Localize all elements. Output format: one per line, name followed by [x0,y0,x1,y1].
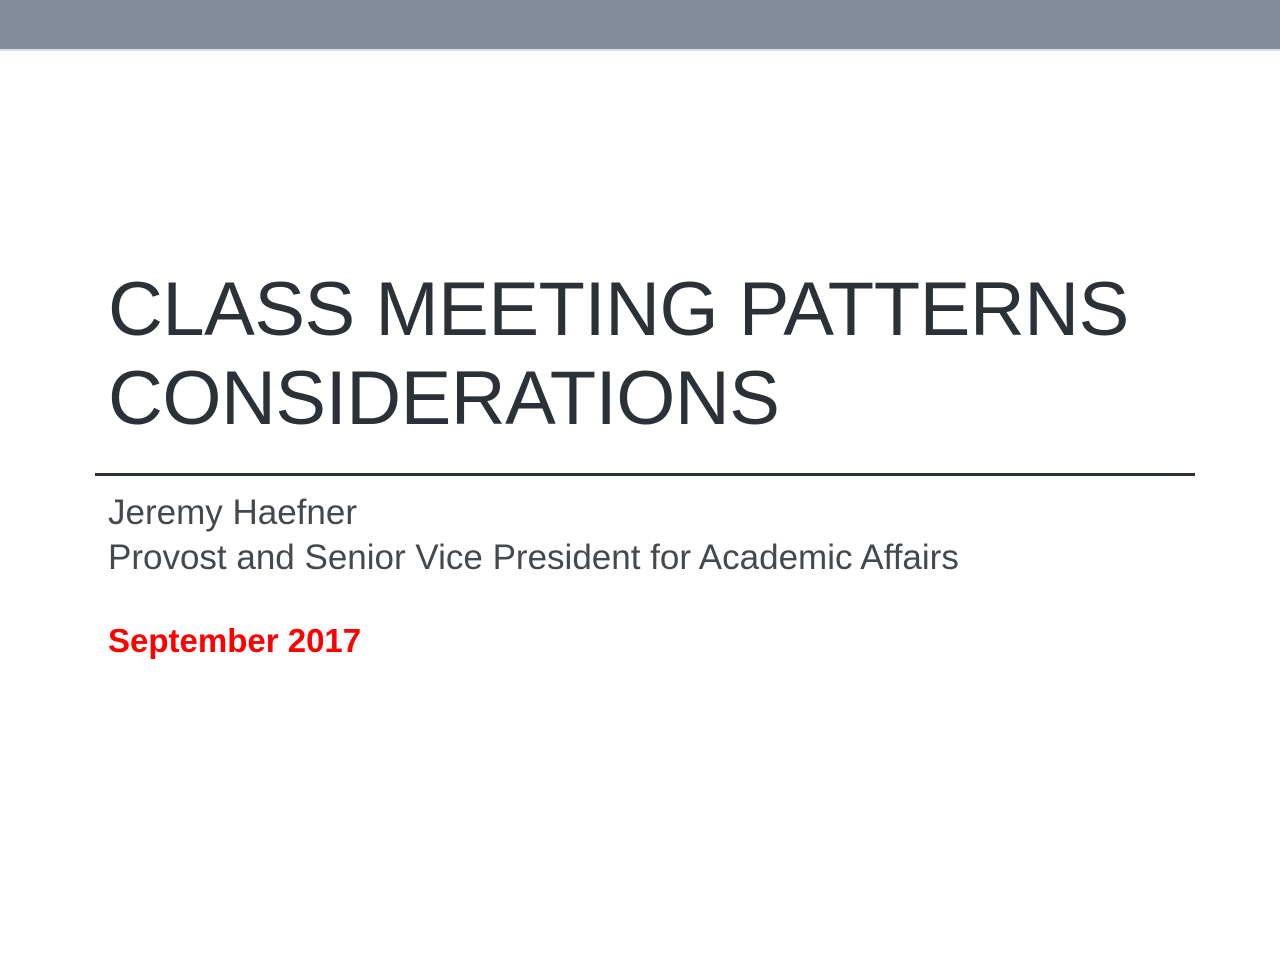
page-title: CLASS MEETING PATTERNS CONSIDERATIONS [108,265,1208,443]
subtitle-block: Jeremy Haefner Provost and Senior Vice P… [108,490,1008,662]
top-accent-band-edge [0,49,1280,51]
title-slide: CLASS MEETING PATTERNS CONSIDERATIONS Je… [0,0,1280,960]
presentation-date: September 2017 [108,620,1008,662]
title-line-1: CLASS MEETING PATTERNS [108,265,1208,354]
title-divider [95,473,1195,476]
subtitle-spacer [108,580,1008,620]
author-role: Provost and Senior Vice President for Ac… [108,535,988,580]
author-name: Jeremy Haefner [108,490,1008,535]
top-accent-band [0,0,1280,49]
title-line-2: CONSIDERATIONS [108,354,1208,443]
